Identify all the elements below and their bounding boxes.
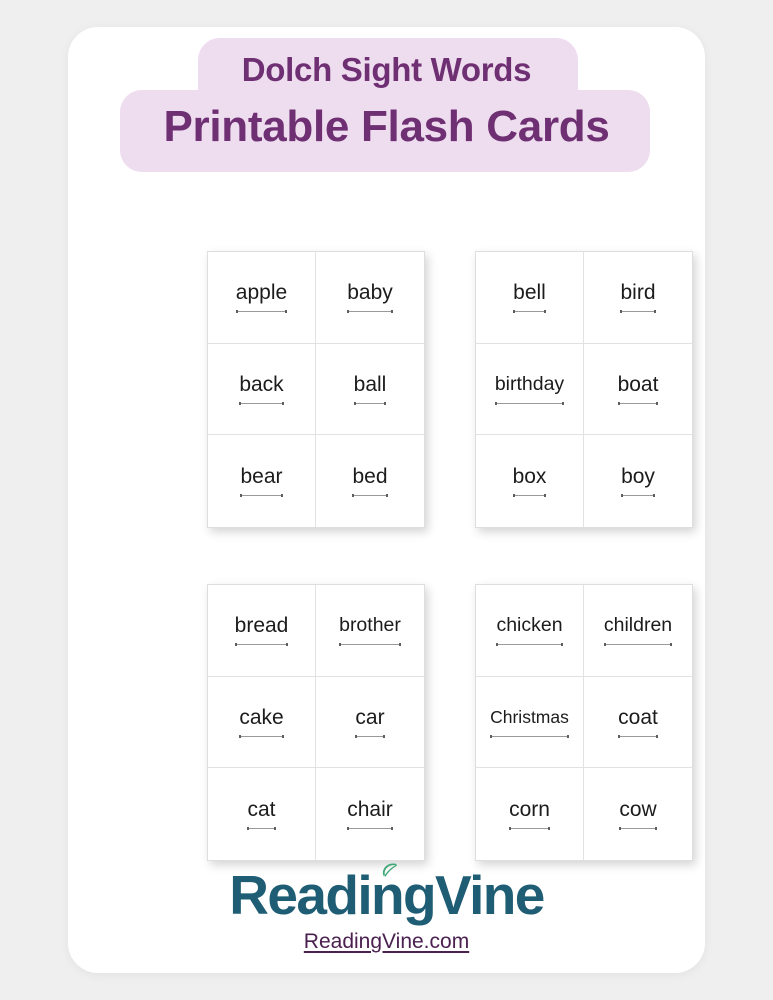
flash-card-word: back — [239, 372, 283, 397]
flash-card-word-block: cat — [247, 797, 275, 831]
site-url-link[interactable]: ReadingVine.com — [68, 929, 705, 955]
flash-card-cell: car — [316, 677, 424, 769]
handwriting-rule-line — [347, 311, 393, 312]
handwriting-rule-line — [618, 403, 659, 404]
flash-card-word-block: bear — [240, 464, 282, 498]
flash-card-word: bell — [513, 280, 546, 305]
flash-card-word-block: Christmas — [490, 705, 569, 739]
flash-card-word: cat — [247, 797, 275, 822]
handwriting-rule-line — [495, 403, 564, 404]
handwriting-rule-line — [496, 644, 562, 645]
flash-card-word-block: chicken — [496, 613, 562, 647]
flash-card-word: bird — [620, 280, 655, 305]
flash-card-word: ball — [354, 372, 387, 397]
flash-card-word-block: back — [239, 372, 283, 406]
flash-card-word: Christmas — [490, 705, 569, 730]
handwriting-rule-line — [239, 736, 283, 737]
flash-card-set-3: breadbrothercakecarcatchair — [207, 584, 425, 861]
flash-card-word-block: boy — [621, 464, 655, 498]
flash-card-word: cake — [239, 705, 283, 730]
flash-card-word: boy — [621, 464, 655, 489]
flash-card-word-block: bell — [513, 280, 546, 314]
flash-card-word-block: apple — [236, 280, 287, 314]
handwriting-rule-line — [604, 644, 672, 645]
flash-card-cell: ball — [316, 344, 424, 436]
flash-card-word: cow — [619, 797, 656, 822]
flash-card-cell: chicken — [476, 585, 584, 677]
flash-card-word-block: coat — [618, 705, 658, 739]
flash-card-word-block: chair — [347, 797, 393, 831]
flash-card-word: apple — [236, 280, 287, 305]
flash-card-word: bear — [240, 464, 282, 489]
handwriting-rule-line — [619, 828, 656, 829]
flash-card-cell: bell — [476, 252, 584, 344]
flash-card-set-4: chickenchildrenChristmascoatcorncow — [475, 584, 693, 861]
flash-card-word-block: cow — [619, 797, 656, 831]
flash-card-word: boat — [618, 372, 659, 397]
flash-card-word-block: ball — [354, 372, 387, 406]
flash-card-cell: coat — [584, 677, 692, 769]
flash-card-word-block: cake — [239, 705, 283, 739]
handwriting-rule-line — [339, 644, 401, 645]
page-title-line-1: Dolch Sight Words — [68, 51, 705, 89]
flash-card-word: chicken — [496, 613, 562, 638]
flash-card-word-block: bed — [352, 464, 387, 498]
flash-card-cell: chair — [316, 768, 424, 860]
flash-card-cell: brother — [316, 585, 424, 677]
handwriting-rule-line — [621, 495, 655, 496]
flash-card-word-block: boat — [618, 372, 659, 406]
readingvine-logo: ReadingVine — [229, 865, 544, 925]
handwriting-rule-line — [240, 495, 282, 496]
flash-card-cell: children — [584, 585, 692, 677]
flash-card-word-block: birthday — [495, 372, 564, 406]
flash-card-set-1: applebabybackballbearbed — [207, 251, 425, 528]
handwriting-rule-line — [347, 828, 393, 829]
flash-card-word-block: box — [513, 464, 547, 498]
flash-card-word: birthday — [495, 372, 564, 397]
flash-card-cell: boy — [584, 435, 692, 527]
flash-card-cell: bird — [584, 252, 692, 344]
handwriting-rule-line — [247, 828, 275, 829]
flash-card-word: chair — [347, 797, 393, 822]
flash-card-word: coat — [618, 705, 658, 730]
flash-card-word-block: bird — [620, 280, 655, 314]
flash-card-word: box — [513, 464, 547, 489]
handwriting-rule-line — [354, 403, 387, 404]
handwriting-rule-line — [490, 736, 569, 737]
handwriting-rule-line — [513, 311, 546, 312]
flash-card-cell: baby — [316, 252, 424, 344]
flash-card-word: brother — [339, 613, 401, 638]
flash-card-cell: bear — [208, 435, 316, 527]
handwriting-rule-line — [239, 403, 283, 404]
handwriting-rule-line — [236, 311, 287, 312]
handwriting-rule-line — [355, 736, 384, 737]
flash-card-cell: cow — [584, 768, 692, 860]
footer: ReadingVine ReadingVine.com — [68, 865, 705, 955]
flash-card-word: bread — [235, 613, 289, 638]
handwriting-rule-line — [509, 828, 550, 829]
header-banner: Dolch Sight Words Printable Flash Cards — [68, 27, 705, 187]
flash-card-word: bed — [352, 464, 387, 489]
flash-card-cell: corn — [476, 768, 584, 860]
leaf-icon — [381, 862, 398, 879]
flash-card-word-block: corn — [509, 797, 550, 831]
printable-sheet: Dolch Sight Words Printable Flash Cards … — [68, 27, 705, 973]
flash-card-word: baby — [347, 280, 393, 305]
flash-card-cell: bread — [208, 585, 316, 677]
handwriting-rule-line — [618, 736, 658, 737]
handwriting-rule-line — [352, 495, 387, 496]
page-title-line-2: Printable Flash Cards — [68, 101, 705, 153]
flash-card-word: car — [355, 705, 384, 730]
flash-card-cell: boat — [584, 344, 692, 436]
flash-card-cell: Christmas — [476, 677, 584, 769]
flash-card-cell: apple — [208, 252, 316, 344]
flash-card-set-2: bellbirdbirthdayboatboxboy — [475, 251, 693, 528]
flash-card-word-block: bread — [235, 613, 289, 647]
flash-card-cell: cake — [208, 677, 316, 769]
flash-card-word-block: baby — [347, 280, 393, 314]
flash-card-word-block: brother — [339, 613, 401, 647]
flash-card-cell: box — [476, 435, 584, 527]
flash-card-word: children — [604, 613, 672, 638]
flash-card-cell: birthday — [476, 344, 584, 436]
handwriting-rule-line — [235, 644, 289, 645]
flash-card-word-block: car — [355, 705, 384, 739]
flash-card-cell: cat — [208, 768, 316, 860]
flash-card-cell: bed — [316, 435, 424, 527]
flash-card-word: corn — [509, 797, 550, 822]
flash-card-word-block: children — [604, 613, 672, 647]
handwriting-rule-line — [620, 311, 655, 312]
flash-card-cell: back — [208, 344, 316, 436]
handwriting-rule-line — [513, 495, 547, 496]
